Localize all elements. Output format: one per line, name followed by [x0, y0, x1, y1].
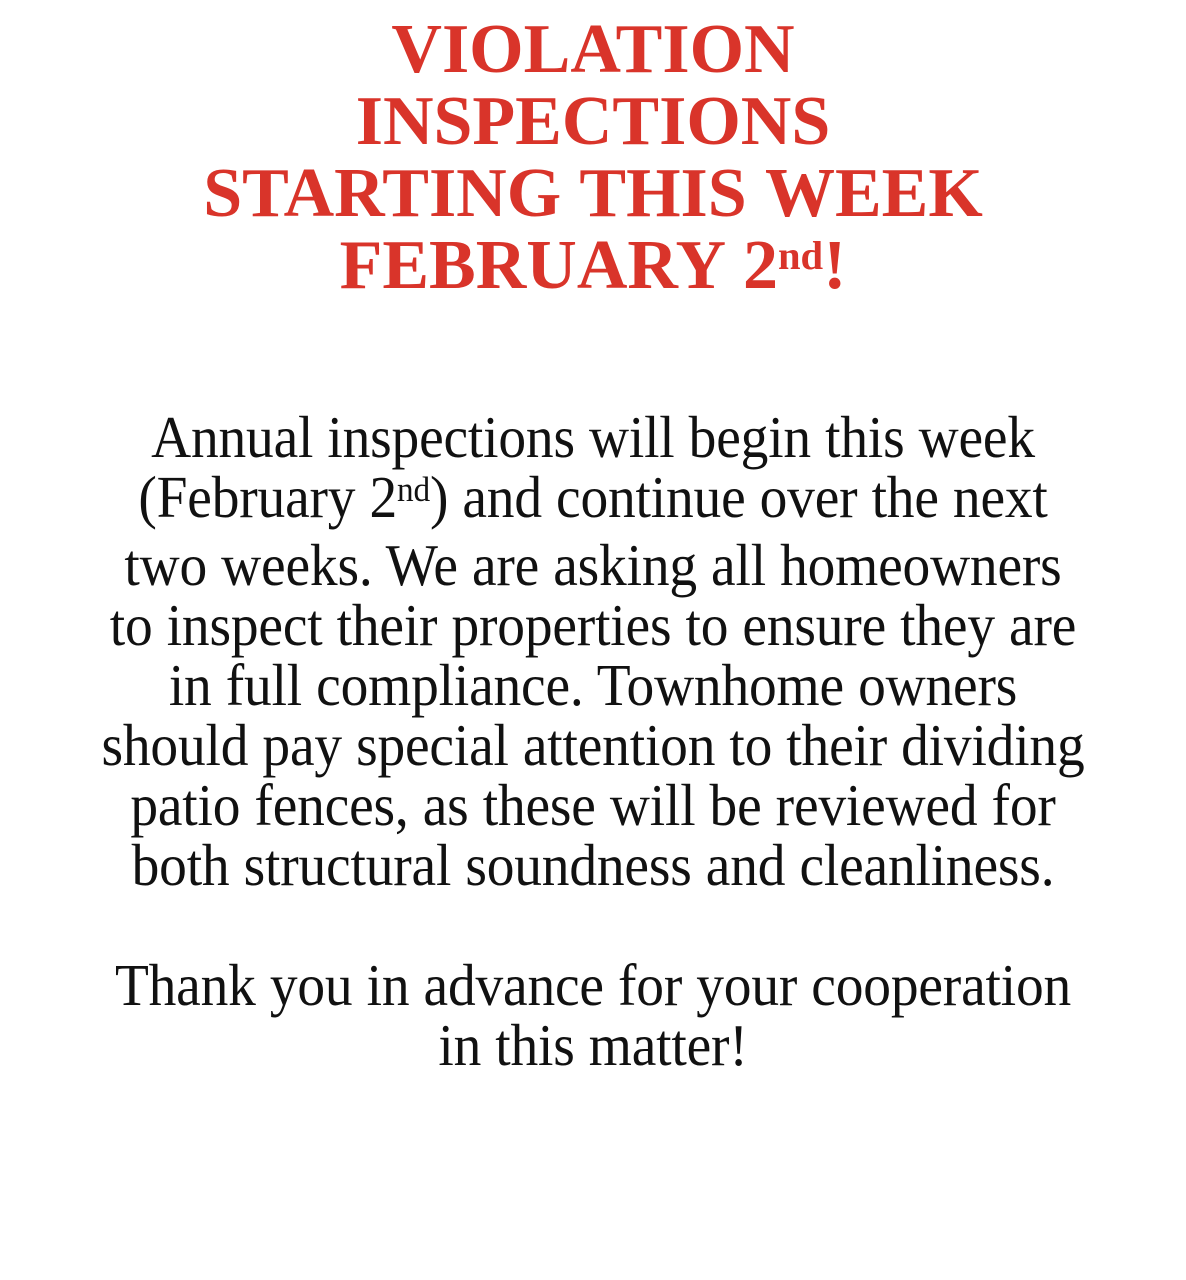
notice-paragraph-1: Annual inspections will begin this week … [100, 407, 1087, 895]
heading-line-3: STARTING THIS WEEK [70, 158, 1116, 230]
notice-paragraph-2: Thank you in advance for your cooperatio… [100, 955, 1087, 1075]
heading-line-1: VIOLATION [70, 14, 1116, 86]
notice-page: VIOLATION INSPECTIONS STARTING THIS WEEK… [0, 0, 1186, 1280]
paragraph-1-date-number: 2 [369, 464, 397, 530]
heading-line-4: FEBRUARY 2nd! [70, 230, 1116, 311]
page-title: VIOLATION INSPECTIONS STARTING THIS WEEK… [0, 0, 1186, 311]
heading-date-prefix: FEBRUARY [340, 227, 743, 304]
paragraph-1-date-ordinal-suffix: nd [397, 469, 430, 509]
heading-date-ordinal-suffix: nd [778, 233, 823, 278]
heading-exclamation: ! [823, 227, 846, 304]
heading-date-number: 2 [743, 227, 778, 304]
notice-body: Annual inspections will begin this week … [0, 407, 1186, 1075]
heading-line-2: INSPECTIONS [70, 86, 1116, 158]
